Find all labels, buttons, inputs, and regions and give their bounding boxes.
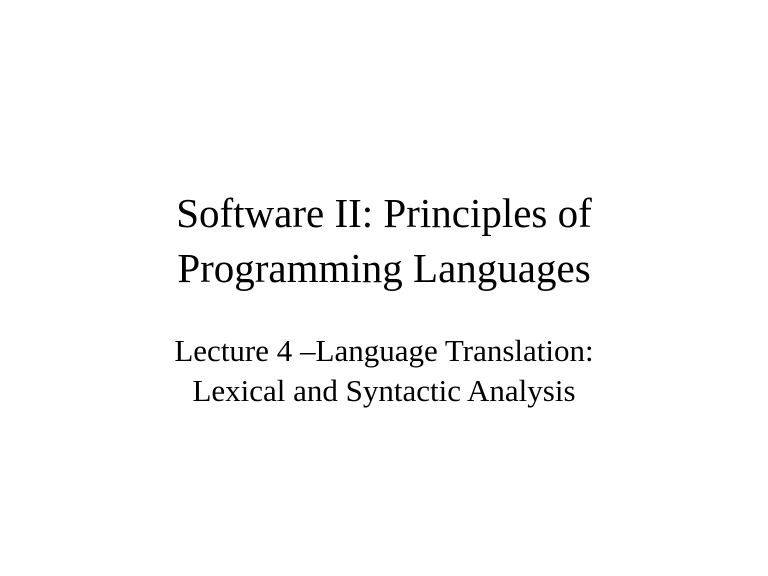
title-line-2: Programming Languages [84,241,684,296]
subtitle-line-1: Lecture 4 –Language Translation: [84,331,684,371]
title-line-1: Software II: Principles of [84,186,684,241]
slide-title: Software II: Principles of Programming L… [84,186,684,296]
presentation-slide: Software II: Principles of Programming L… [0,0,768,576]
subtitle-line-2: Lexical and Syntactic Analysis [84,371,684,411]
slide-subtitle: Lecture 4 –Language Translation: Lexical… [84,331,684,411]
